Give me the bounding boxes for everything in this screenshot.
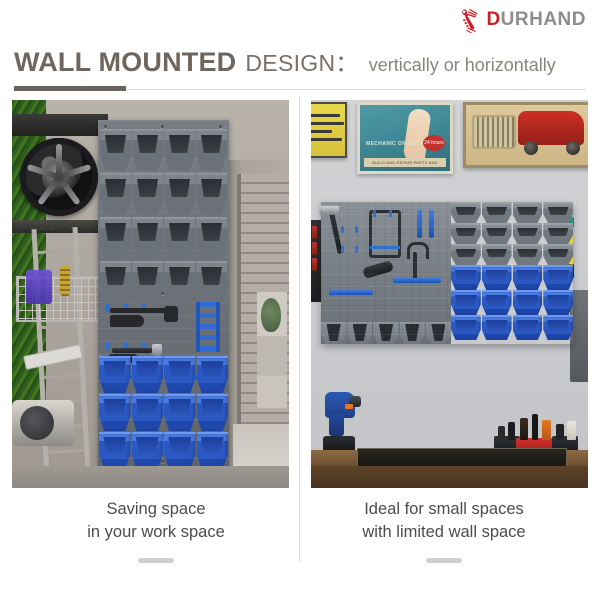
small-bin[interactable]	[347, 322, 372, 344]
bottle	[542, 420, 551, 440]
wall-organizer-horizontal[interactable]	[321, 202, 573, 344]
small-bin[interactable]	[400, 322, 425, 344]
small-bin[interactable]	[373, 322, 398, 344]
bottle	[567, 421, 576, 440]
caption-right-dash	[426, 558, 462, 563]
peg-hook[interactable]	[373, 210, 376, 217]
brand-name-initial: D	[486, 9, 500, 30]
sign-footer: BUILD AND REPAIR PARTS AND ACCESSORIES	[364, 158, 446, 167]
gray-bin[interactable]	[132, 173, 163, 215]
gray-bin[interactable]	[100, 217, 131, 259]
headline-detail: vertically or horizontally	[369, 55, 556, 76]
car-grille	[472, 115, 516, 149]
pegboard-panel	[321, 202, 451, 344]
wrench-tool[interactable]	[110, 315, 144, 327]
gray-bin[interactable]	[164, 217, 195, 259]
gray-bin[interactable]	[513, 244, 543, 265]
wall-organizer-vertical[interactable]	[98, 120, 229, 468]
headline-subject: DESIGN：	[245, 44, 358, 78]
gray-bin[interactable]	[482, 244, 512, 265]
caption-left-line1: Saving space	[106, 498, 205, 521]
caption-left-dash	[138, 558, 174, 563]
tree-decor	[261, 298, 281, 332]
blue-bin[interactable]	[164, 356, 196, 393]
panel-gallery: 24 hours MECHANIC ON DUTY BUILD AND REPA…	[12, 100, 588, 488]
blue-bin[interactable]	[451, 315, 481, 340]
blue-bin[interactable]	[99, 356, 131, 393]
workshop-floor	[311, 466, 588, 488]
blue-bin-row[interactable]	[99, 432, 228, 469]
gray-bin[interactable]	[451, 202, 481, 223]
brand-name-rest: URHAND	[501, 9, 586, 30]
brand-logo: DURHAND	[459, 6, 586, 34]
headline-emphasis: WALL MOUNTED	[14, 47, 236, 78]
bin-grid[interactable]	[451, 202, 573, 344]
blue-rail[interactable]	[329, 290, 373, 295]
blue-bin[interactable]	[513, 265, 543, 290]
blue-bin[interactable]	[482, 315, 512, 340]
header-accent-bar	[14, 86, 126, 91]
gray-bin[interactable]	[196, 217, 227, 259]
blue-bin[interactable]	[164, 432, 196, 469]
cordless-drill	[323, 392, 357, 452]
plastic-jug	[26, 270, 52, 304]
blue-rail[interactable]	[393, 278, 441, 283]
peg-hook[interactable]	[355, 226, 358, 233]
gray-bin[interactable]	[132, 129, 163, 171]
caption-left: Saving space in your work space	[12, 498, 300, 588]
gray-bin-row[interactable]	[451, 223, 573, 244]
blue-bin[interactable]	[99, 432, 131, 469]
blue-bin[interactable]	[513, 290, 543, 315]
peg-hook[interactable]	[341, 246, 344, 253]
hammer-tool[interactable]	[328, 208, 342, 254]
sign-badge: 24 hours	[423, 135, 445, 151]
car-tyre	[524, 141, 538, 155]
car-tyre	[566, 141, 580, 155]
gray-bin[interactable]	[132, 217, 163, 259]
blue-bin-row[interactable]	[451, 290, 573, 315]
blue-bin[interactable]	[132, 394, 164, 431]
peg-hook[interactable]	[389, 210, 392, 217]
page-headline: WALL MOUNTED DESIGN： vertically or horiz…	[14, 44, 590, 78]
blue-bin[interactable]	[197, 356, 229, 393]
gray-bin[interactable]	[164, 261, 195, 303]
caption-right-line2: with limited wall space	[362, 521, 525, 544]
hacksaw-tool[interactable]	[369, 210, 401, 258]
brand-name: DURHAND	[486, 7, 586, 33]
classic-car-sign	[463, 102, 588, 168]
blue-bin[interactable]	[164, 394, 196, 431]
blue-bin[interactable]	[197, 432, 229, 469]
gray-bin[interactable]	[100, 129, 131, 171]
cable-reel	[12, 400, 74, 446]
bottle	[508, 422, 515, 440]
blue-bin[interactable]	[543, 290, 573, 315]
blue-rail[interactable]	[417, 210, 422, 238]
gray-bin[interactable]	[543, 223, 573, 244]
screwdriver-tool[interactable]	[413, 252, 417, 280]
gray-bin[interactable]	[196, 129, 227, 171]
gray-bin-row[interactable]	[100, 217, 227, 259]
bottle	[520, 418, 528, 440]
peg-hook[interactable]	[341, 226, 344, 233]
bottle	[498, 426, 505, 440]
blue-bin[interactable]	[513, 315, 543, 340]
gray-bin-row[interactable]	[100, 261, 227, 303]
caption-right-line1: Ideal for small spaces	[364, 498, 524, 521]
gray-bin[interactable]	[451, 223, 481, 244]
wrench-tool[interactable]	[110, 308, 166, 313]
gray-bin[interactable]	[482, 202, 512, 223]
car-body	[518, 111, 584, 145]
bottle	[532, 414, 538, 440]
gray-bin[interactable]	[482, 223, 512, 244]
sign-headline: MECHANIC ON DUTY	[366, 141, 423, 148]
panel-divider	[299, 96, 300, 562]
drill-grip	[329, 414, 344, 436]
gray-bin[interactable]	[196, 261, 227, 303]
blue-bin[interactable]	[132, 356, 164, 393]
mechanic-on-duty-sign: 24 hours MECHANIC ON DUTY BUILD AND REPA…	[357, 102, 453, 174]
gray-bin[interactable]	[513, 202, 543, 223]
gray-bin-row[interactable]	[100, 173, 227, 215]
coil-spring	[60, 266, 70, 296]
blue-bin[interactable]	[482, 265, 512, 290]
hammer-head[interactable]	[152, 344, 162, 356]
blue-bin[interactable]	[197, 394, 229, 431]
gray-bin[interactable]	[513, 223, 543, 244]
caption-right: Ideal for small spaces with limited wall…	[300, 498, 588, 588]
gray-bin[interactable]	[100, 261, 131, 303]
garage-floor	[12, 466, 289, 488]
blue-bin-row[interactable]	[451, 265, 573, 290]
blue-rail[interactable]	[429, 210, 434, 238]
bottle	[556, 424, 564, 440]
drill-accent	[345, 404, 353, 409]
gray-bin[interactable]	[543, 244, 573, 265]
small-bin[interactable]	[321, 322, 346, 344]
blue-tool-rack[interactable]	[196, 302, 220, 352]
gray-bin[interactable]	[164, 129, 195, 171]
small-bin-strip[interactable]	[321, 322, 451, 344]
wrench-icon	[459, 7, 485, 33]
peg-hook[interactable]	[355, 246, 358, 253]
gray-bin[interactable]	[132, 261, 163, 303]
gray-bin[interactable]	[100, 173, 131, 215]
alloy-wheel-spokes	[20, 138, 98, 216]
gray-bin-row[interactable]	[451, 244, 573, 265]
panel-spacer	[289, 100, 311, 488]
gray-bin[interactable]	[196, 173, 227, 215]
paint-roller-tool[interactable]	[362, 260, 394, 279]
gray-bin[interactable]	[164, 173, 195, 215]
panel-right-horizontal-mount: 24 hours MECHANIC ON DUTY BUILD AND REPA…	[311, 100, 588, 488]
gray-bin[interactable]	[451, 244, 481, 265]
blue-bin[interactable]	[451, 265, 481, 290]
blue-bin[interactable]	[451, 290, 481, 315]
blue-bin[interactable]	[543, 315, 573, 340]
blue-bin-row[interactable]	[451, 315, 573, 340]
caption-row: Saving space in your work space Ideal fo…	[12, 498, 588, 588]
gray-bin-row[interactable]	[100, 129, 227, 171]
peg-hook[interactable]	[106, 342, 110, 350]
blue-bin[interactable]	[99, 394, 131, 431]
pliers-tool[interactable]	[164, 306, 178, 322]
gray-bin-row[interactable]	[451, 202, 573, 223]
blue-bin-row[interactable]	[99, 356, 228, 393]
blue-bin[interactable]	[482, 290, 512, 315]
shelf-upper	[12, 114, 108, 136]
small-bin[interactable]	[426, 322, 451, 344]
blue-bin-row[interactable]	[99, 394, 228, 431]
yellow-warning-sign	[311, 102, 347, 158]
blue-bin[interactable]	[543, 265, 573, 290]
blue-bin[interactable]	[132, 432, 164, 469]
gray-bin[interactable]	[543, 202, 573, 223]
caption-left-line2: in your work space	[87, 521, 225, 544]
hammer-tool[interactable]	[112, 348, 152, 353]
panel-left-vertical-mount	[12, 100, 289, 488]
